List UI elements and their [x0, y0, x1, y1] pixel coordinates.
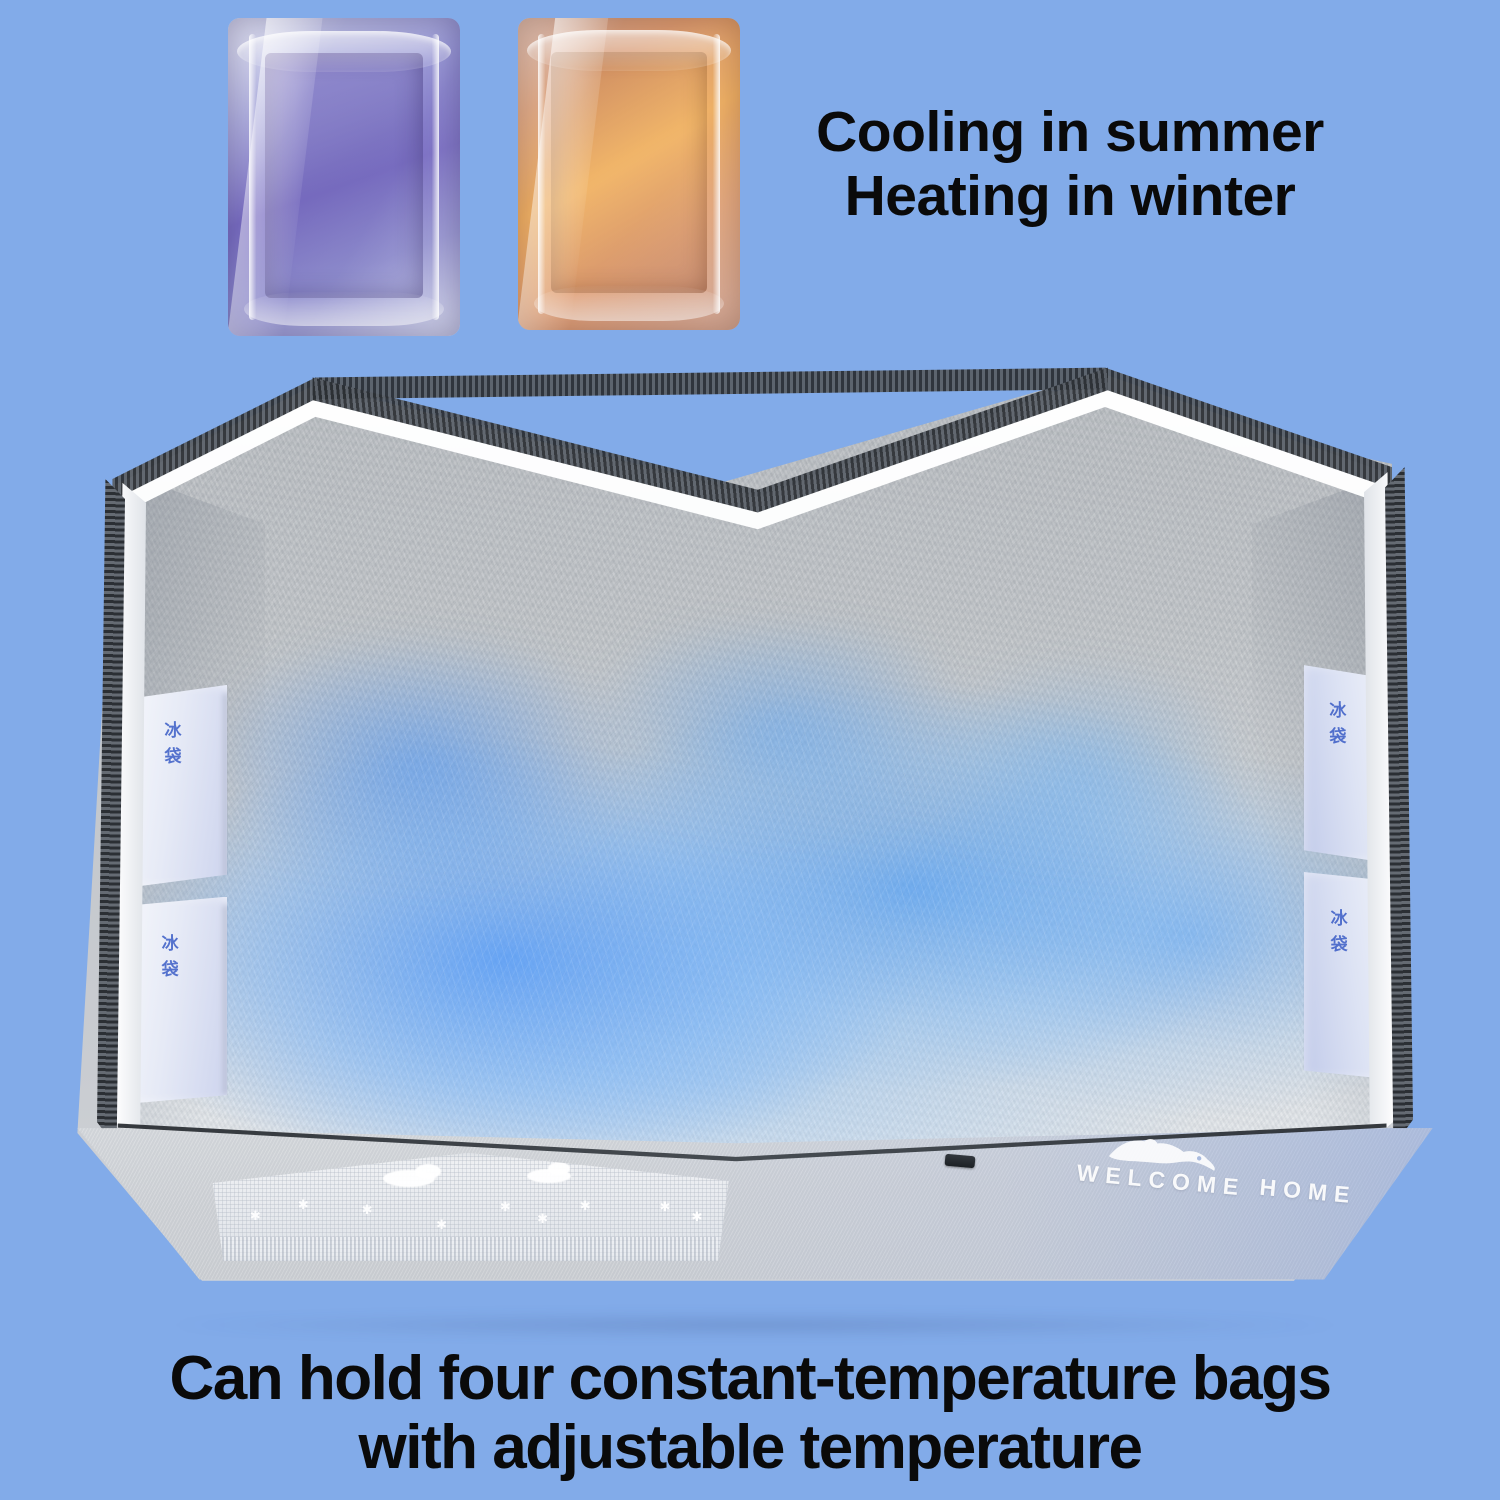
star-icon: ✱ — [537, 1212, 548, 1225]
star-icon: ✱ — [500, 1200, 511, 1213]
headline-line-1: Cooling in summer — [780, 100, 1360, 164]
pocket-label: 冰袋 — [1329, 909, 1346, 961]
pocket-flap — [131, 897, 228, 1104]
caption: Can hold four constant-temperature bags … — [60, 1345, 1440, 1483]
caption-line-1: Can hold four constant-temperature bags — [60, 1345, 1440, 1414]
star-icon: ✱ — [691, 1210, 702, 1223]
cooling-thumbnail-bottom-rim — [244, 292, 444, 327]
heating-thumbnail-left-edge — [538, 34, 545, 315]
product-photo: 冰袋 冰袋 冰袋 冰袋 — [55, 345, 1455, 1330]
cooling-thumbnail-left-edge — [249, 34, 256, 320]
star-icon: ✱ — [250, 1209, 261, 1222]
headline-line-2: Heating in winter — [780, 164, 1360, 228]
cooling-mode-thumbnail — [228, 18, 460, 336]
heating-mode-thumbnail — [518, 18, 740, 330]
headline: Cooling in summer Heating in winter — [780, 100, 1360, 229]
cooling-thumbnail-top-rim — [237, 31, 450, 72]
heating-thumbnail-right-edge — [713, 34, 720, 315]
heating-thumbnail-top-rim — [527, 30, 731, 71]
cloud-icon — [415, 1164, 441, 1179]
ice-bag-pocket-left-upper: 冰袋 — [135, 685, 227, 887]
product-drop-shadow — [167, 1314, 1343, 1336]
cooling-thumbnail-body — [228, 18, 460, 336]
marketing-image-canvas: Cooling in summer Heating in winter — [0, 0, 1500, 1500]
caption-line-2: with adjustable temperature — [60, 1414, 1440, 1483]
pocket-label: 冰袋 — [1327, 701, 1344, 753]
star-icon: ✱ — [660, 1200, 671, 1213]
heating-thumbnail-bottom-rim — [534, 286, 725, 320]
pocket-flap — [135, 685, 227, 887]
star-icon: ✱ — [436, 1218, 447, 1231]
pocket-label: 冰袋 — [163, 721, 180, 773]
star-icon: ✱ — [298, 1198, 309, 1211]
pocket-label: 冰袋 — [160, 934, 177, 986]
cooling-thumbnail-right-edge — [432, 34, 439, 320]
star-icon: ✱ — [580, 1199, 591, 1212]
ice-bag-pocket-left-lower: 冰袋 — [131, 897, 228, 1104]
heating-thumbnail-body — [518, 18, 740, 330]
star-icon: ✱ — [362, 1203, 373, 1216]
mesh-window-bottom-trim — [218, 1237, 718, 1261]
